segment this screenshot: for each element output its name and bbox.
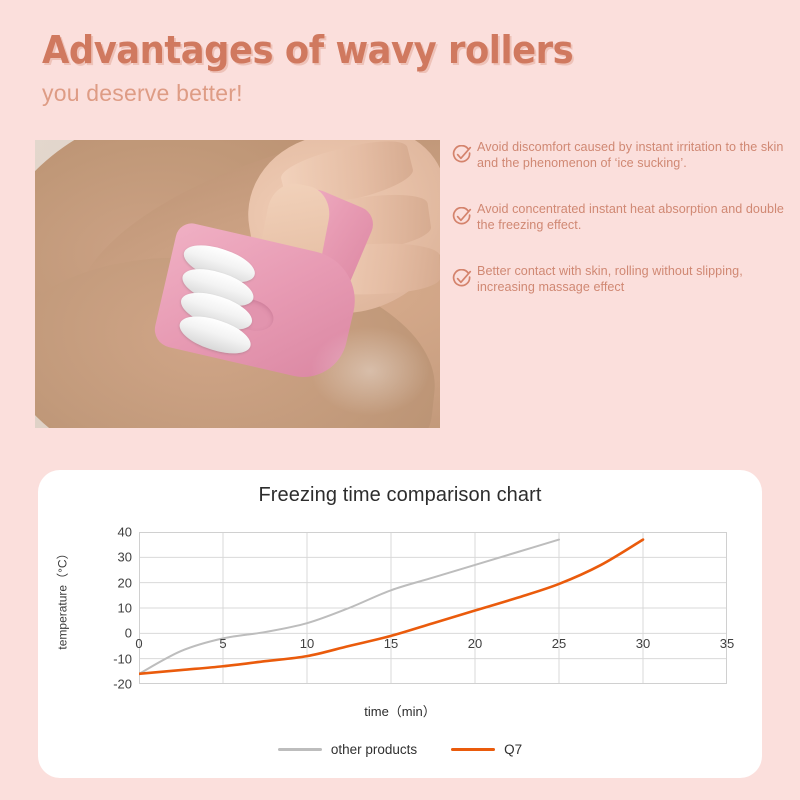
legend-label: Q7 xyxy=(504,742,522,757)
photo-highlight xyxy=(310,326,430,416)
y-tick-label: 30 xyxy=(118,550,132,565)
y-tick-label: 0 xyxy=(125,626,132,641)
page-subtitle: you deserve better! xyxy=(42,80,243,107)
check-circle-icon xyxy=(452,207,472,227)
y-tick-label: -10 xyxy=(113,651,132,666)
product-photo xyxy=(35,140,440,428)
x-tick-label: 35 xyxy=(720,636,734,651)
y-tick-label: -20 xyxy=(113,677,132,692)
y-tick-label: 20 xyxy=(118,575,132,590)
x-tick-label: 10 xyxy=(300,636,314,651)
chart-title: Freezing time comparison chart xyxy=(38,484,762,507)
x-tick-label: 0 xyxy=(135,636,142,651)
x-tick-label: 25 xyxy=(552,636,566,651)
chart-plot-area: -20-10010203040 05101520253035 xyxy=(139,532,727,684)
list-item: Avoid discomfort caused by instant irrit… xyxy=(452,140,788,171)
advantages-list: Avoid discomfort caused by instant irrit… xyxy=(452,140,788,296)
x-tick-label: 20 xyxy=(468,636,482,651)
x-tick-label: 5 xyxy=(219,636,226,651)
legend-swatch xyxy=(278,748,322,751)
chart-legend: other products Q7 xyxy=(38,742,762,757)
chart-card: Freezing time comparison chart temperatu… xyxy=(38,470,762,778)
list-item-label: Avoid concentrated instant heat absorpti… xyxy=(477,202,788,233)
legend-item-other-products[interactable]: other products xyxy=(278,742,417,757)
chart-svg xyxy=(139,532,727,684)
legend-swatch xyxy=(451,748,495,751)
x-tick-label: 15 xyxy=(384,636,398,651)
y-tick-label: 40 xyxy=(118,525,132,540)
page-title: Advantages of wavy rollers xyxy=(42,28,573,72)
list-item: Avoid concentrated instant heat absorpti… xyxy=(452,202,788,233)
legend-item-q7[interactable]: Q7 xyxy=(451,742,522,757)
y-tick-label: 10 xyxy=(118,601,132,616)
x-tick-label: 30 xyxy=(636,636,650,651)
legend-label: other products xyxy=(331,742,417,757)
list-item: Better contact with skin, rolling withou… xyxy=(452,264,788,295)
chart-y-axis-label: temperature（°C） xyxy=(54,529,71,669)
list-item-label: Better contact with skin, rolling withou… xyxy=(477,264,788,295)
list-item-label: Avoid discomfort caused by instant irrit… xyxy=(477,140,788,171)
check-circle-icon xyxy=(452,145,472,165)
chart-x-axis-label: time（min） xyxy=(38,701,762,720)
check-circle-icon xyxy=(452,269,472,289)
